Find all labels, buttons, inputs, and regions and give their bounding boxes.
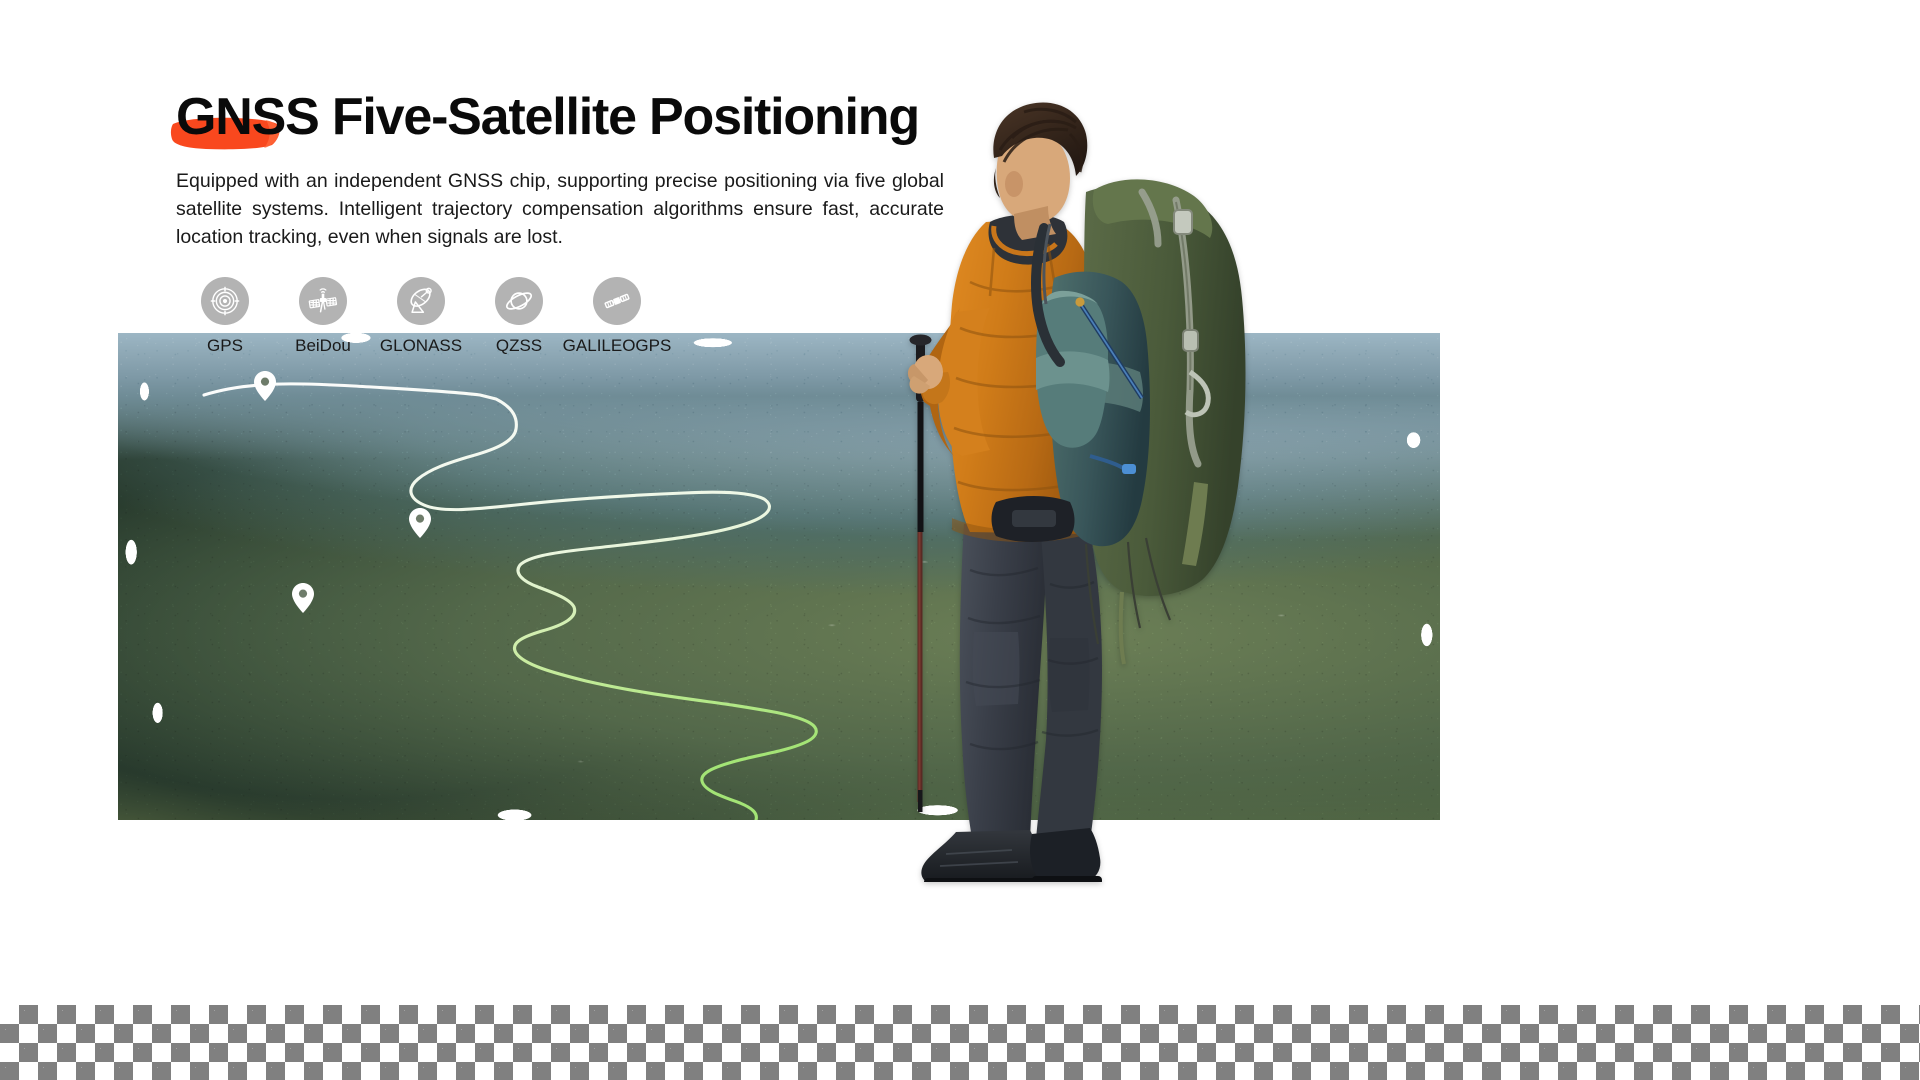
gps-target-icon-wrap [201, 277, 249, 325]
system-item-glonass[interactable]: GLONASS [372, 277, 470, 356]
orbit-planet-icon [504, 286, 534, 316]
trail-marker-start[interactable] [254, 371, 276, 401]
system-item-gps[interactable]: GPS [176, 277, 274, 356]
page-subtitle: Equipped with an independent GNSS chip, … [176, 168, 944, 251]
page-title-text: GNSS Five-Satellite Positioning [176, 88, 919, 146]
trekking-pole [910, 335, 932, 813]
space-station-icon-wrap [593, 277, 641, 325]
space-station-icon [602, 286, 632, 316]
system-label-galileogps: GALILEOGPS [563, 336, 672, 356]
trail-marker-mid[interactable] [409, 508, 431, 538]
orbit-planet-icon-wrap [495, 277, 543, 325]
hero-text-block: GNSS Five-Satellite Positioning Equipped… [176, 88, 966, 356]
satellite-icon [308, 286, 338, 316]
transparency-checkerboard [0, 1005, 1920, 1080]
page-title: GNSS Five-Satellite Positioning [176, 88, 919, 146]
satellite-dish-icon [406, 286, 436, 316]
satellite-systems-row: GPS [176, 277, 966, 356]
system-item-qzss[interactable]: QZSS [470, 277, 568, 356]
gps-target-icon [210, 286, 240, 316]
satellite-dish-icon-wrap [397, 277, 445, 325]
system-item-galileogps[interactable]: GALILEOGPS [568, 277, 666, 356]
hiker-pants [960, 524, 1102, 842]
system-label-gps: GPS [207, 336, 243, 356]
system-label-beidou: BeiDou [295, 336, 351, 356]
satellite-icon-wrap [299, 277, 347, 325]
system-label-glonass: GLONASS [380, 336, 462, 356]
system-label-qzss: QZSS [496, 336, 542, 356]
hiking-boots [921, 828, 1102, 882]
system-item-beidou[interactable]: BeiDou [274, 277, 372, 356]
trail-marker-end[interactable] [292, 583, 314, 613]
